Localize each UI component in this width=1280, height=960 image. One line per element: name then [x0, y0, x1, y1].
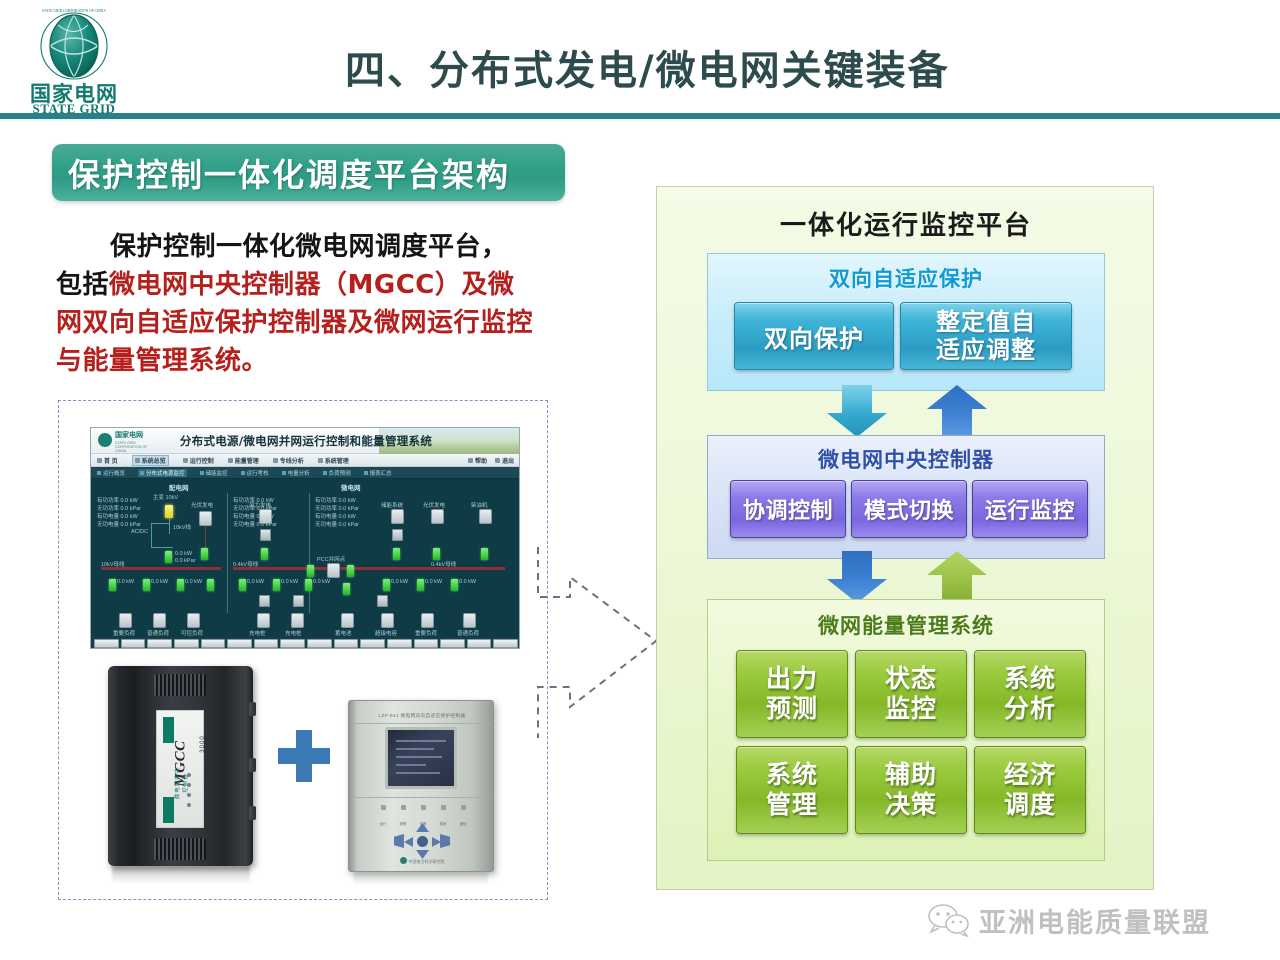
scada-submenu-label: 分布式电源监控 [146, 469, 185, 477]
scada-menubar[interactable]: 首 页 系统总览 运行控制 能量管理 专线分析 系统管理 帮助 退出 [91, 454, 519, 467]
paragraph-line2-plain: 包括 [56, 270, 109, 300]
scada-menu-label: 帮助 [475, 456, 487, 465]
relay-led: 运行 [377, 805, 389, 830]
arrow-pair-protection-mgcc [657, 385, 1155, 439]
page-title: 四、分布式发电/微电网关键装备 [345, 38, 1175, 96]
integrated-platform-panel: 一体化运行监控平台 双向自适应保护 双向保护 整定值自 适应调整 [656, 186, 1154, 890]
scada-device-icon[interactable] [377, 595, 388, 607]
block-mgcc-title: 微电网中央控制器 [708, 436, 1104, 474]
scada-menu-item[interactable]: 系统总览 [132, 455, 169, 466]
globe-icon: STATE GRID CORPORATION OF CHINA [36, 8, 112, 84]
nav-right-key[interactable] [432, 837, 441, 847]
footer-watermark: 亚洲电能质量联盟 [928, 898, 1248, 942]
scada-titlebar: 国家电网 STATE GRID CORPORATION OF CHINA 分布式… [91, 428, 519, 454]
block-protection-tiles: 双向保护 整定值自 适应调整 [734, 302, 1072, 370]
scada-submenu-label: 运行考核 [247, 469, 269, 477]
scada-menu-label: 能量管理 [235, 456, 259, 465]
scada-submenubar[interactable]: 运行概览 分布式电源监控 储能监控 运行考核 电量分析 负荷预测 报表汇总 [91, 467, 519, 479]
scada-submenu-item[interactable]: 运行概览 [97, 469, 125, 477]
arrow-up-blue-icon [927, 385, 987, 437]
scada-menu-item[interactable]: 首 页 [97, 456, 118, 465]
block-protection-title: 双向自适应保护 [708, 254, 1104, 293]
nav-enter-key[interactable] [417, 836, 428, 847]
scada-submenu-label: 储能监控 [206, 469, 228, 477]
scada-device-icon[interactable] [260, 529, 271, 541]
mgcc-faceplate: MGCC 3000 微电网中央控制器 [156, 710, 204, 828]
scada-screenshot: 国家电网 STATE GRID CORPORATION OF CHINA 分布式… [90, 427, 520, 649]
tile-economic-dispatch[interactable]: 经济 调度 [974, 746, 1086, 834]
relay-divider [353, 723, 491, 724]
tile-output-forecast[interactable]: 出力 预测 [736, 650, 848, 738]
scada-tie-switch-icon[interactable] [327, 563, 340, 578]
scada-toolbar-button[interactable] [147, 639, 172, 648]
slide-root: STATE GRID CORPORATION OF CHINA 国家电网 STA… [0, 0, 1280, 960]
scada-toolbar-button[interactable] [307, 639, 332, 648]
scada-toolbar-button[interactable] [493, 639, 518, 648]
state-grid-logo: STATE GRID CORPORATION OF CHINA 国家电网 STA… [14, 8, 134, 112]
relay-divider [353, 797, 491, 798]
relay-led-label: 运行 [380, 822, 387, 826]
scada-device-icon[interactable] [199, 511, 212, 526]
bullet-icon [200, 471, 204, 475]
scada-load-icon[interactable] [421, 613, 434, 628]
scada-diagram-canvas[interactable]: 配电网 微电网 有功功率 0.0 kW 无功功率 0.0 kPar 有功电量 0… [91, 479, 519, 649]
bullet-icon [140, 471, 144, 475]
bullet-icon [323, 471, 327, 475]
paragraph-line1: 保护控制一体化微电网调度平台， [110, 232, 508, 262]
scada-submenu-item[interactable]: 负荷预测 [323, 469, 351, 477]
scada-menu-item[interactable]: 系统管理 [318, 456, 349, 465]
scada-device-icon[interactable] [392, 529, 403, 541]
tile-decision-support[interactable]: 辅助 决策 [855, 746, 967, 834]
scada-bus-right [233, 567, 505, 570]
control-icon [183, 458, 188, 463]
relay-vendor-logo-icon [400, 857, 407, 864]
scada-load-icon[interactable] [291, 613, 304, 628]
relay-navigation-keypad[interactable] [394, 823, 450, 859]
scada-submenu-item[interactable]: 报表汇总 [364, 469, 392, 477]
scada-toolbar-button[interactable] [334, 639, 359, 648]
arrow-down-cyan-icon [827, 385, 887, 437]
scada-toolbar-button[interactable] [254, 639, 279, 648]
nav-up-key[interactable] [416, 823, 429, 832]
platform-title: 一体化运行监控平台 [657, 205, 1155, 242]
wechat-icon [928, 903, 970, 937]
scada-left-panel-title: 配电网 [169, 482, 189, 492]
tile-setting-adaptive-adjust[interactable]: 整定值自 适应调整 [900, 302, 1072, 370]
block-ems-tiles: 出力 预测 状态 监控 系统 分析 系统 管理 辅助 决策 经济 调度 [736, 650, 1086, 834]
plus-combine-icon [278, 730, 330, 782]
arrow-down-blue-icon [827, 551, 887, 603]
scada-load-icon[interactable] [257, 613, 270, 628]
nav-left-key[interactable] [404, 837, 413, 847]
scada-menu-label: 运行控制 [190, 456, 214, 465]
home-icon [97, 458, 102, 463]
scada-divider [227, 493, 228, 613]
scada-bus-mid-label: 0.4kV母线 [233, 560, 258, 568]
mgcc-reflection [112, 866, 250, 884]
scada-logout-item[interactable]: 退出 [495, 456, 514, 465]
scada-toolbar-button[interactable] [280, 639, 305, 648]
scada-toolbar-button[interactable] [94, 639, 119, 648]
paragraph-line4-highlight: 与能量管理系统。 [56, 346, 268, 376]
mgcc-side-connector [249, 806, 256, 820]
scada-toolbar-button[interactable] [414, 639, 439, 648]
scada-submenu-label: 报表汇总 [370, 469, 392, 477]
block-protection: 双向自适应保护 双向保护 整定值自 适应调整 [707, 253, 1105, 391]
scada-toolbar-button[interactable] [440, 639, 465, 648]
protection-relay-device-photo: LZP-941 微电网双向自适应保护控制器 运行 报警 告警 跳闸 通信 [348, 700, 498, 880]
nav-corner-key[interactable] [394, 834, 404, 848]
tile-coordinated-control[interactable]: 协调控制 [730, 480, 846, 538]
svg-text:STATE GRID CORPORATION OF CHIN: STATE GRID CORPORATION OF CHINA [42, 9, 106, 13]
relay-lcd-display[interactable] [385, 727, 457, 789]
mgcc-side-connector [249, 702, 256, 716]
scada-toolbar-button[interactable] [467, 639, 492, 648]
scada-menu-label: 系统总览 [142, 456, 166, 465]
scada-menubar-right[interactable]: 帮助 退出 [468, 456, 514, 465]
block-mgcc: 微电网中央控制器 协调控制 模式切换 运行监控 [707, 435, 1105, 559]
scada-bus-left-label: 10kV母线 [101, 560, 125, 568]
relay-model-label: LZP-941 微电网双向自适应保护控制器 [349, 713, 495, 719]
tile-system-management[interactable]: 系统 管理 [736, 746, 848, 834]
mgcc-enclosure: MGCC 3000 微电网中央控制器 [108, 666, 253, 866]
scada-submenu-item[interactable]: 储能监控 [200, 469, 228, 477]
scada-menu-item[interactable]: 专线分析 [273, 456, 304, 465]
scada-device-icon[interactable] [431, 509, 444, 524]
scada-load-icon[interactable] [187, 613, 200, 628]
block-ems: 微网能量管理系统 出力 预测 状态 监控 系统 分析 系统 管理 辅助 决策 经… [707, 599, 1105, 861]
scada-toolbar-button[interactable] [360, 639, 385, 648]
mgcc-device-photo: MGCC 3000 微电网中央控制器 [98, 666, 268, 876]
scada-toolbar-button[interactable] [387, 639, 412, 648]
scada-device-icon[interactable] [293, 595, 304, 607]
body-paragraph: 保护控制一体化微电网调度平台， 包括微电网中央控制器（MGCC）及微 网双向自适… [56, 228, 576, 380]
tile-bidirectional-protection[interactable]: 双向保护 [734, 302, 894, 370]
scada-toolbar-button[interactable] [227, 639, 252, 648]
scada-load-icon[interactable] [463, 613, 476, 628]
scada-device-icon[interactable] [391, 509, 404, 524]
scada-menu-label: 系统管理 [325, 456, 349, 465]
scada-submenu-item[interactable]: 运行考核 [241, 469, 269, 477]
scada-help-item[interactable]: 帮助 [468, 456, 487, 465]
scada-toolbar-button[interactable] [174, 639, 199, 648]
arrow-pair-mgcc-ems [657, 551, 1155, 605]
relay-enclosure: LZP-941 微电网双向自适应保护控制器 运行 报警 告警 跳闸 通信 [348, 700, 494, 872]
scada-submenu-label: 运行概览 [103, 469, 125, 477]
tile-system-analysis[interactable]: 系统 分析 [974, 650, 1086, 738]
relay-led: 通信 [457, 805, 469, 830]
scada-load-icon[interactable] [153, 613, 166, 628]
bullet-icon [364, 471, 368, 475]
scada-right-panel-title: 微电网 [341, 482, 361, 492]
scada-submenu-item[interactable]: 电量分析 [282, 469, 310, 477]
scada-device-icon[interactable] [259, 595, 270, 607]
scada-menu-label: 退出 [502, 456, 514, 465]
paragraph-line2-highlight: 微电网中央控制器（MGCC）及微 [109, 270, 514, 300]
help-icon [468, 458, 473, 463]
scada-device-icon[interactable] [259, 509, 272, 524]
analysis-icon [273, 458, 278, 463]
section-header-label: 保护控制一体化调度平台架构 [52, 150, 510, 196]
logout-icon [495, 458, 500, 463]
tile-status-monitoring[interactable]: 状态 监控 [855, 650, 967, 738]
mgcc-vent-top [154, 674, 206, 696]
scada-toolbar-button[interactable] [121, 639, 146, 648]
scada-submenu-item[interactable]: 分布式电源监控 [138, 469, 187, 477]
relay-reflection [354, 872, 488, 886]
scada-menu-label: 专线分析 [280, 456, 304, 465]
block-mgcc-tiles: 协调控制 模式切换 运行监控 [730, 480, 1088, 538]
scada-button-bar[interactable] [91, 637, 520, 649]
mgcc-vent-bottom [154, 838, 206, 860]
arrow-up-green-icon [927, 551, 987, 603]
scada-divider [309, 493, 310, 613]
bullet-icon [241, 471, 245, 475]
scada-submenu-label: 负荷预测 [329, 469, 351, 477]
scada-load-icon[interactable] [381, 613, 394, 628]
relay-vendor-label: 中国电力科学研究院 [349, 857, 495, 865]
scada-submenu-label: 电量分析 [288, 469, 310, 477]
mgcc-model-label: 3000 [200, 724, 206, 764]
watermark-label: 亚洲电能质量联盟 [979, 901, 1211, 940]
scada-app-title: 分布式电源/微电网并网运行控制和能量管理系统 [91, 433, 520, 449]
bullet-icon [97, 471, 101, 475]
scada-toolbar-button[interactable] [201, 639, 226, 648]
scada-load-icon[interactable] [341, 613, 354, 628]
relay-led-label: 通信 [460, 822, 467, 826]
settings-icon [318, 458, 323, 463]
mgcc-subtitle-label: 微电网中央控制器 [173, 765, 189, 801]
scada-device-icon[interactable] [479, 509, 492, 524]
scada-menu-item[interactable]: 运行控制 [183, 456, 214, 465]
header-divider-light [0, 119, 1280, 121]
energy-icon [228, 458, 233, 463]
scada-menu-label: 首 页 [104, 456, 118, 465]
relay-vendor-text: 中国电力科学研究院 [409, 859, 445, 864]
scada-load-icon[interactable] [119, 613, 132, 628]
scada-bus-right-label: 0.4kV母线 [431, 560, 456, 568]
tile-mode-switching[interactable]: 模式切换 [851, 480, 967, 538]
section-header-pill: 保护控制一体化调度平台架构 [52, 144, 565, 201]
bullet-icon [282, 471, 286, 475]
block-ems-title: 微网能量管理系统 [708, 600, 1104, 640]
nav-corner-key[interactable] [440, 834, 450, 848]
mgcc-side-connector [249, 758, 256, 772]
scada-menu-item[interactable]: 能量管理 [228, 456, 259, 465]
overview-icon [135, 458, 140, 463]
paragraph-line3-highlight: 网双向自适应保护控制器及微网运行监控 [56, 308, 533, 338]
tile-operation-monitoring[interactable]: 运行监控 [972, 480, 1088, 538]
